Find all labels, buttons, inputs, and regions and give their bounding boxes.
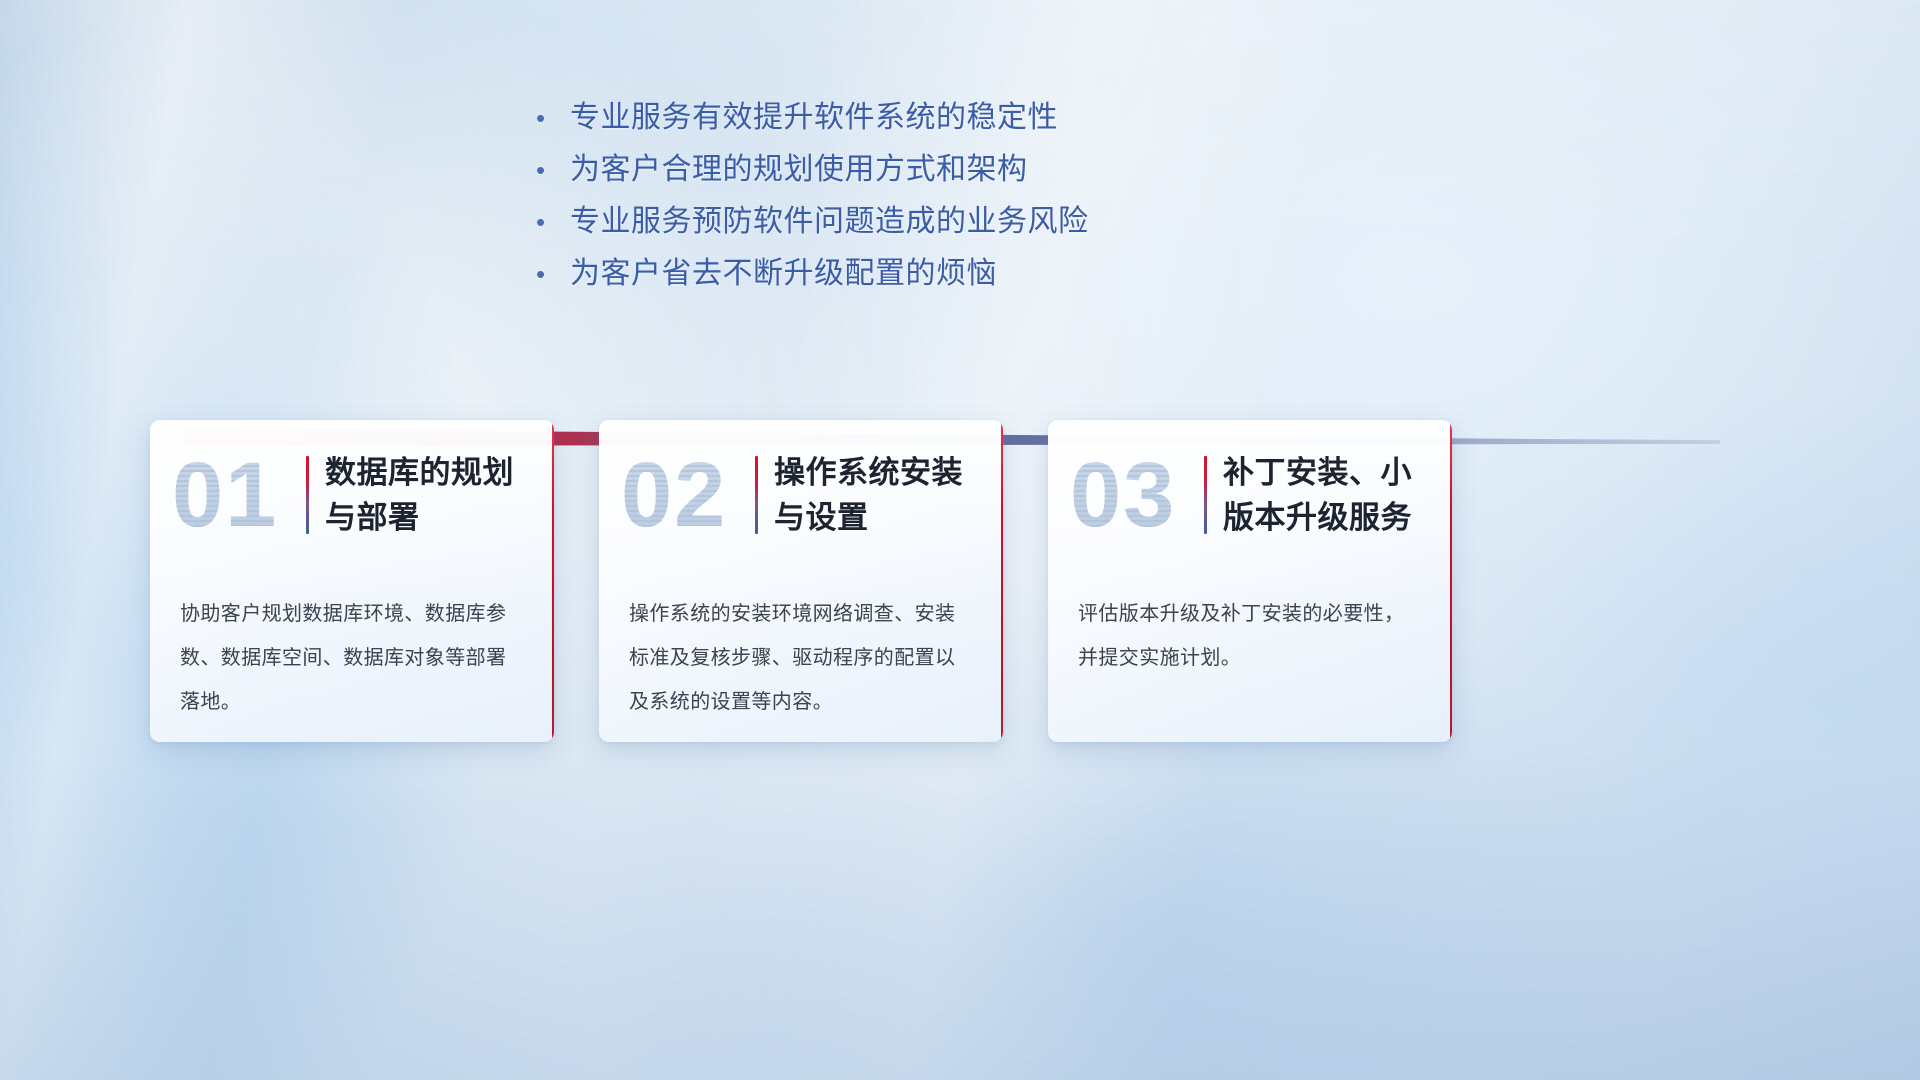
card-title: 操作系统安装与设置 xyxy=(774,450,977,540)
bullet-text: 为客户省去不断升级配置的烦恼 xyxy=(570,248,997,300)
card-accent-rule xyxy=(755,456,758,534)
bullet-text: 为客户合理的规划使用方式和架构 xyxy=(570,144,1028,196)
benefits-bullet-list: • 专业服务有效提升软件系统的稳定性 • 为客户合理的规划使用方式和架构 • 专… xyxy=(536,92,1296,300)
card-body-text: 评估版本升级及补丁安装的必要性，并提交实施计划。 xyxy=(1048,570,1452,680)
service-card-row: 01 数据库的规划与部署 协助客户规划数据库环境、数据库参数、数据库空间、数据库… xyxy=(150,420,1770,750)
card-accent-rule xyxy=(306,456,309,534)
card-number-watermark: 01 xyxy=(172,443,304,547)
card-number-watermark: 03 xyxy=(1070,443,1202,547)
bullet-dot-icon: • xyxy=(536,92,570,144)
list-item: • 专业服务预防软件问题造成的业务风险 xyxy=(536,196,1296,248)
card-header: 02 操作系统安装与设置 xyxy=(599,420,1003,570)
card-accent-rule xyxy=(1204,456,1207,534)
bullet-dot-icon: • xyxy=(536,248,570,300)
list-item: • 专业服务有效提升软件系统的稳定性 xyxy=(536,92,1296,144)
card-title: 数据库的规划与部署 xyxy=(325,450,528,540)
card-body-text: 操作系统的安装环境网络调查、安装标准及复核步骤、驱动程序的配置以及系统的设置等内… xyxy=(599,570,1003,724)
bullet-dot-icon: • xyxy=(536,144,570,196)
card-header: 01 数据库的规划与部署 xyxy=(150,420,554,570)
service-card-03[interactable]: 03 补丁安装、小版本升级服务 评估版本升级及补丁安装的必要性，并提交实施计划。 xyxy=(1048,420,1452,742)
slide-stage: • 专业服务有效提升软件系统的稳定性 • 为客户合理的规划使用方式和架构 • 专… xyxy=(0,0,1920,1080)
card-body-text: 协助客户规划数据库环境、数据库参数、数据库空间、数据库对象等部署落地。 xyxy=(150,570,554,724)
card-header: 03 补丁安装、小版本升级服务 xyxy=(1048,420,1452,570)
list-item: • 为客户省去不断升级配置的烦恼 xyxy=(536,248,1296,300)
list-item: • 为客户合理的规划使用方式和架构 xyxy=(536,144,1296,196)
service-card-01[interactable]: 01 数据库的规划与部署 协助客户规划数据库环境、数据库参数、数据库空间、数据库… xyxy=(150,420,554,742)
bullet-text: 专业服务预防软件问题造成的业务风险 xyxy=(570,196,1089,248)
service-card-02[interactable]: 02 操作系统安装与设置 操作系统的安装环境网络调查、安装标准及复核步骤、驱动程… xyxy=(599,420,1003,742)
bullet-text: 专业服务有效提升软件系统的稳定性 xyxy=(570,92,1058,144)
card-title: 补丁安装、小版本升级服务 xyxy=(1223,450,1426,540)
bullet-dot-icon: • xyxy=(536,196,570,248)
card-number-watermark: 02 xyxy=(621,443,753,547)
